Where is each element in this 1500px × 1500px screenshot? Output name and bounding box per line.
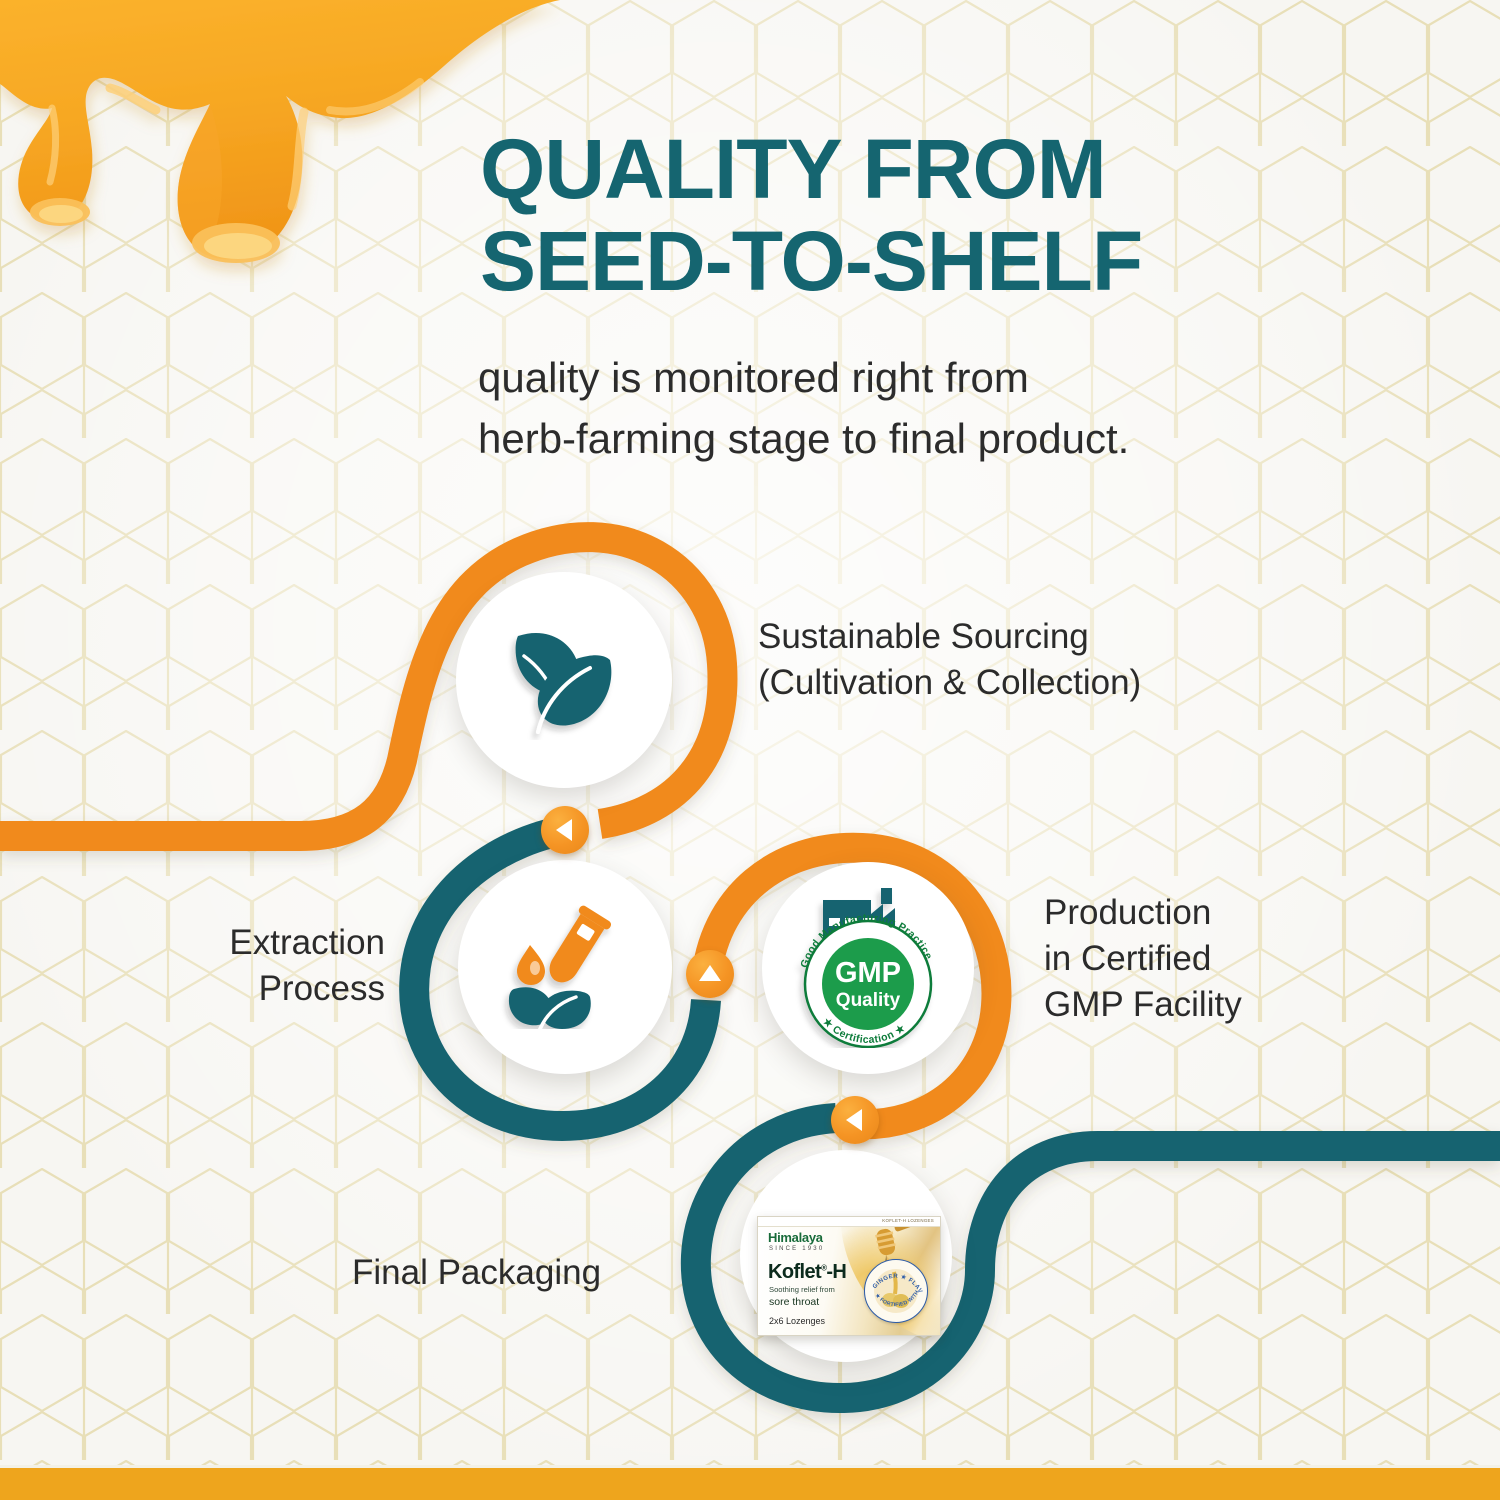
label-sustainable-sourcing: Sustainable Sourcing (Cultivation & Coll…: [758, 614, 1238, 706]
label-line: Sustainable Sourcing: [758, 614, 1238, 660]
package-top-strip: KOFLET-H LOZENGES: [758, 1217, 940, 1227]
node-sustainable-sourcing[interactable]: [456, 572, 672, 788]
node-gmp-facility[interactable]: Good Manufacturing Practice ★ Certificat…: [762, 862, 974, 1074]
label-line: Extraction: [150, 920, 385, 966]
node-extraction-process[interactable]: [458, 860, 672, 1074]
infographic-canvas: QUALITY FROM SEED-TO-SHELF quality is mo…: [0, 0, 1500, 1500]
flow-marker-1: [541, 806, 589, 854]
label-line: (Cultivation & Collection): [758, 660, 1238, 706]
label-gmp-facility: Production in Certified GMP Facility: [1044, 890, 1374, 1029]
product-package-icon: KOFLET-H LOZENGES Himalaya SINCE 1930 Ko…: [757, 1216, 941, 1336]
package-product-name: Koflet®-H: [768, 1261, 846, 1284]
package-product-base: Koflet: [768, 1261, 821, 1283]
package-count: 2x6 Lozenges: [769, 1316, 825, 1326]
gmp-quality-seal-icon: Good Manufacturing Practice ★ Certificat…: [783, 888, 953, 1048]
label-final-packaging: Final Packaging: [352, 1250, 662, 1296]
package-since: SINCE 1930: [769, 1246, 824, 1252]
two-leaves-icon: [498, 620, 630, 740]
label-line: GMP Facility: [1044, 982, 1374, 1028]
label-line: Process: [150, 966, 385, 1012]
test-tube-leaves-icon: [500, 905, 630, 1029]
package-brand: Himalaya: [768, 1230, 823, 1245]
flow-marker-2: [686, 950, 734, 998]
arrow-left-icon: [846, 1109, 862, 1131]
svg-text:GMP: GMP: [835, 957, 901, 989]
arrow-up-icon: [699, 965, 721, 981]
label-extraction-process: Extraction Process: [150, 920, 385, 1012]
package-tagline: Soothing relief from: [769, 1285, 835, 1294]
package-claim: sore throat: [769, 1296, 819, 1308]
package-top-note: KOFLET-H LOZENGES: [882, 1218, 934, 1223]
package-flavour-badge: GINGER ★ FLAVOUR ★ FORTIFIED WITH HONEY …: [864, 1259, 928, 1323]
label-line: Production: [1044, 890, 1374, 936]
label-line: Final Packaging: [352, 1250, 662, 1296]
flow-marker-3: [831, 1096, 879, 1144]
package-product-suffix: -H: [826, 1261, 846, 1283]
bottom-accent-bar: [0, 1468, 1500, 1500]
label-line: in Certified: [1044, 936, 1374, 982]
svg-text:Quality: Quality: [836, 990, 901, 1011]
arrow-left-icon: [556, 819, 572, 841]
